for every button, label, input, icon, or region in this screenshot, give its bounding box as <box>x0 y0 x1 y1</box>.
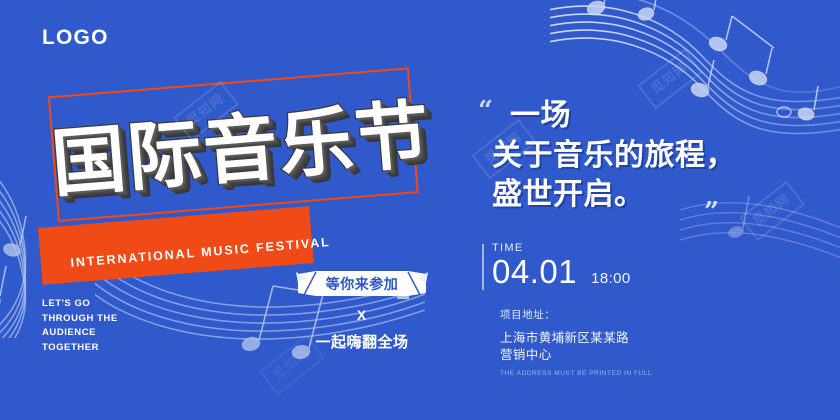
address-line-2: 营销中心 <box>500 346 652 363</box>
headline-line-1: 一场 <box>492 96 822 136</box>
slogan-line-4: TOGETHER <box>42 341 118 356</box>
logo[interactable]: LOGO <box>42 26 109 50</box>
address-block: 项目地址： 上海市黄埔新区某某路 营销中心 THE ADDRESS MUST B… <box>500 307 652 377</box>
headline-line-2: 关于音乐的旅程， <box>492 136 822 176</box>
ribbon-separator: X <box>296 307 428 323</box>
slogan-block: LET'S GO THROUGH THE AUDIENCE TOGETHER <box>42 297 118 356</box>
ribbon-group: 等你来参加 X 一起嗨翻全场 <box>296 270 428 352</box>
event-hour: 18:00 <box>591 270 631 287</box>
address-note: THE ADDRESS MUST BE PRINTED IN FULL <box>500 370 652 377</box>
headline-text: 一场 关于音乐的旅程， 盛世开启。 <box>492 96 822 215</box>
slogan-line-3: AUDIENCE <box>42 326 118 341</box>
time-row: 04.01 18:00 <box>492 255 631 290</box>
headline-block: “ 一场 关于音乐的旅程， 盛世开启。 ” <box>492 96 822 215</box>
ribbon-sub-label: 一起嗨翻全场 <box>296 331 428 352</box>
event-date: 04.01 <box>492 255 577 290</box>
time-divider <box>482 244 484 290</box>
address-title: 项目地址： <box>500 307 652 322</box>
quote-close-mark: ” <box>704 199 719 225</box>
address-line-1: 上海市黄埔新区某某路 <box>500 329 652 346</box>
slogan-line-1: LET'S GO <box>42 297 118 312</box>
poster-canvas: LOGO 国际音乐节 INTERNATIONAL MUSIC FESTIVAL … <box>0 0 840 420</box>
slogan-line-2: THROUGH THE <box>42 312 118 327</box>
quote-open-mark: “ <box>478 98 493 124</box>
address-lines: 上海市黄埔新区某某路 营销中心 <box>500 329 652 364</box>
time-block: TIME 04.01 18:00 <box>492 242 631 290</box>
headline-line-3: 盛世开启。 <box>492 175 822 215</box>
ribbon-banner-label: 等你来参加 <box>296 274 428 294</box>
ribbon-banner: 等你来参加 <box>296 270 428 297</box>
